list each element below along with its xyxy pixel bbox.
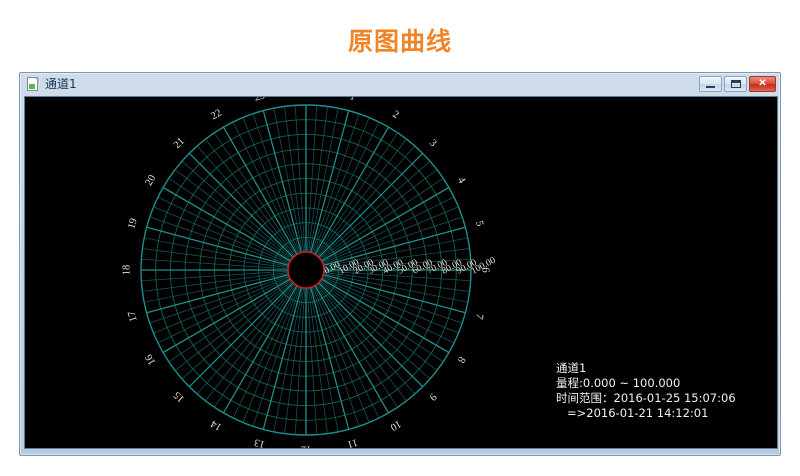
window-controls: ✕ xyxy=(699,76,776,92)
info-time-start: 时间范围：2016-01-25 15:07:06 xyxy=(556,391,736,406)
svg-text:4: 4 xyxy=(455,175,468,186)
svg-text:18: 18 xyxy=(122,265,133,276)
svg-text:2: 2 xyxy=(390,109,400,121)
page-title: 原图曲线 xyxy=(0,22,800,58)
window-title: 通道1 xyxy=(45,78,77,90)
svg-text:20: 20 xyxy=(144,173,159,188)
svg-text:3: 3 xyxy=(427,138,438,149)
window-titlebar[interactable]: 通道1 ✕ xyxy=(20,73,780,95)
svg-text:11: 11 xyxy=(346,436,359,448)
info-channel: 通道1 xyxy=(556,361,736,376)
svg-text:17: 17 xyxy=(126,310,139,323)
svg-text:1: 1 xyxy=(348,97,356,103)
svg-text:9: 9 xyxy=(427,391,438,402)
minimize-icon xyxy=(706,86,715,88)
polar-chart-canvas[interactable]: 012345678910111213141516171819202122230.… xyxy=(24,96,778,449)
svg-text:14: 14 xyxy=(209,417,224,432)
svg-text:7: 7 xyxy=(473,312,485,320)
maximize-icon xyxy=(731,80,741,88)
close-icon: ✕ xyxy=(758,79,766,89)
maximize-button[interactable] xyxy=(724,76,747,92)
svg-text:21: 21 xyxy=(172,136,187,151)
close-button[interactable]: ✕ xyxy=(749,76,776,92)
page-root: 原图曲线 通道1 ✕ 01234567891011 xyxy=(0,0,800,476)
info-range: 量程:0.000 ~ 100.000 xyxy=(556,376,736,391)
info-time-end: =>2016-01-21 14:12:01 xyxy=(556,406,736,421)
chart-window: 通道1 ✕ 0123456789101112131415161718192021… xyxy=(19,72,781,456)
chart-info-block: 通道1 量程:0.000 ~ 100.000 时间范围：2016-01-25 1… xyxy=(556,361,736,421)
minimize-button[interactable] xyxy=(699,76,722,92)
svg-text:15: 15 xyxy=(172,389,187,404)
svg-text:22: 22 xyxy=(209,108,224,123)
document-icon xyxy=(27,77,40,91)
svg-text:8: 8 xyxy=(455,354,467,364)
svg-text:13: 13 xyxy=(253,436,266,448)
svg-text:10: 10 xyxy=(388,418,403,433)
svg-text:5: 5 xyxy=(473,220,485,228)
svg-text:16: 16 xyxy=(144,352,159,367)
svg-text:12: 12 xyxy=(301,444,312,449)
svg-text:23: 23 xyxy=(253,97,266,104)
svg-text:19: 19 xyxy=(126,217,139,230)
